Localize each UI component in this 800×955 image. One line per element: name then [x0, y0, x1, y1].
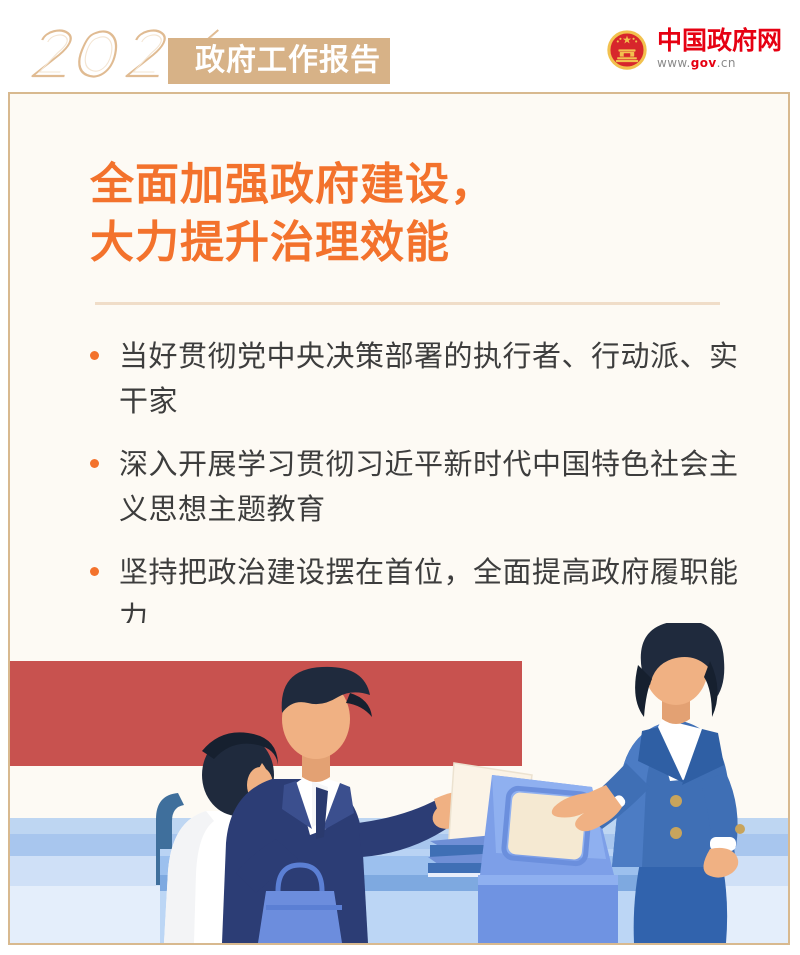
brand-text: 中国政府网 www.gov.cn	[657, 28, 782, 72]
report-card: 全面加强政府建设， 大力提升治理效能 当好贯彻党中央决策部署的执行者、行动派、实…	[8, 92, 790, 945]
china-national-emblem-icon	[606, 29, 648, 71]
bullet-dot-icon	[90, 567, 99, 576]
brand-url-highlight: gov	[691, 56, 717, 70]
brand-url: www.gov.cn	[657, 56, 782, 72]
brand-url-suffix: .cn	[717, 56, 736, 70]
bullet-dot-icon	[90, 459, 99, 468]
bullet-text: 当好贯彻党中央决策部署的执行者、行动派、实干家	[119, 334, 740, 424]
office-scene-illustration	[10, 623, 788, 943]
title-line-1: 全面加强政府建设，	[90, 156, 730, 214]
bullet-dot-icon	[90, 351, 99, 360]
bullet-list: 当好贯彻党中央决策部署的执行者、行动派、实干家 深入开展学习贯彻习近平新时代中国…	[90, 334, 740, 658]
report-tag-banner: 政府工作报告	[168, 38, 390, 84]
brand-url-prefix: www.	[657, 56, 691, 70]
report-tag-label: 政府工作报告	[177, 46, 381, 76]
brand-name: 中国政府网	[657, 28, 782, 54]
title-line-2: 大力提升治理效能	[90, 214, 730, 272]
site-brand[interactable]: 中国政府网 www.gov.cn	[606, 28, 782, 72]
list-item: 当好贯彻党中央决策部署的执行者、行动派、实干家	[90, 334, 740, 424]
list-item: 深入开展学习贯彻习近平新时代中国特色社会主义思想主题教育	[90, 442, 740, 532]
page-title: 全面加强政府建设， 大力提升治理效能	[90, 156, 730, 272]
bullet-text: 深入开展学习贯彻习近平新时代中国特色社会主义思想主题教育	[119, 442, 740, 532]
page-header: 政府工作报告 中国政府网	[0, 0, 800, 92]
title-divider	[95, 302, 720, 305]
